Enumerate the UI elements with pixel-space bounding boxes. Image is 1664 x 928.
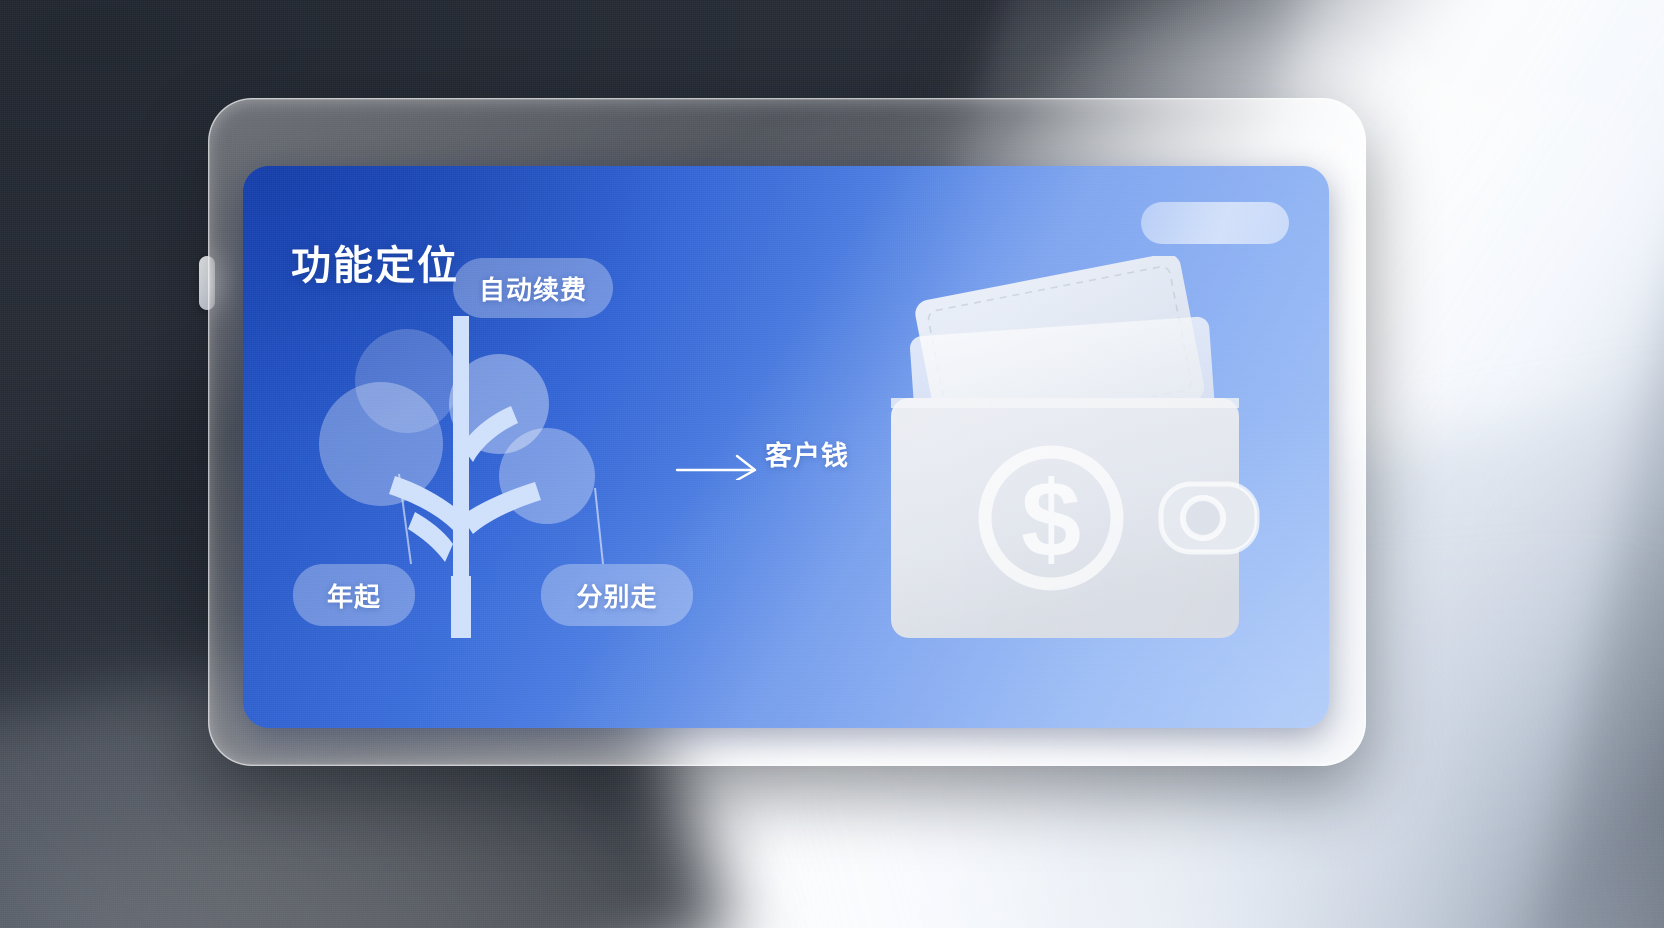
tree-illustration [303, 276, 733, 696]
tree-diagram: 自动续费 年起 分别走 [303, 276, 733, 696]
tree-pill-auto-renew[interactable]: 自动续费 [453, 258, 613, 318]
tree-pill-year-start[interactable]: 年起 [293, 564, 415, 626]
wallet-icon: $ [883, 256, 1263, 656]
screenshot-canvas: 功能定位 [0, 0, 1664, 928]
arrow-right-icon [675, 448, 761, 480]
clasp-icon [1161, 484, 1257, 552]
tablet-screen: 功能定位 [243, 166, 1329, 728]
wallet-illustration: $ [883, 256, 1263, 656]
svg-text:$: $ [1021, 458, 1081, 579]
flow-label: 客户钱 [765, 434, 849, 473]
tree-pill-separate-path[interactable]: 分别走 [541, 564, 693, 626]
corner-chip[interactable] [1141, 202, 1289, 244]
